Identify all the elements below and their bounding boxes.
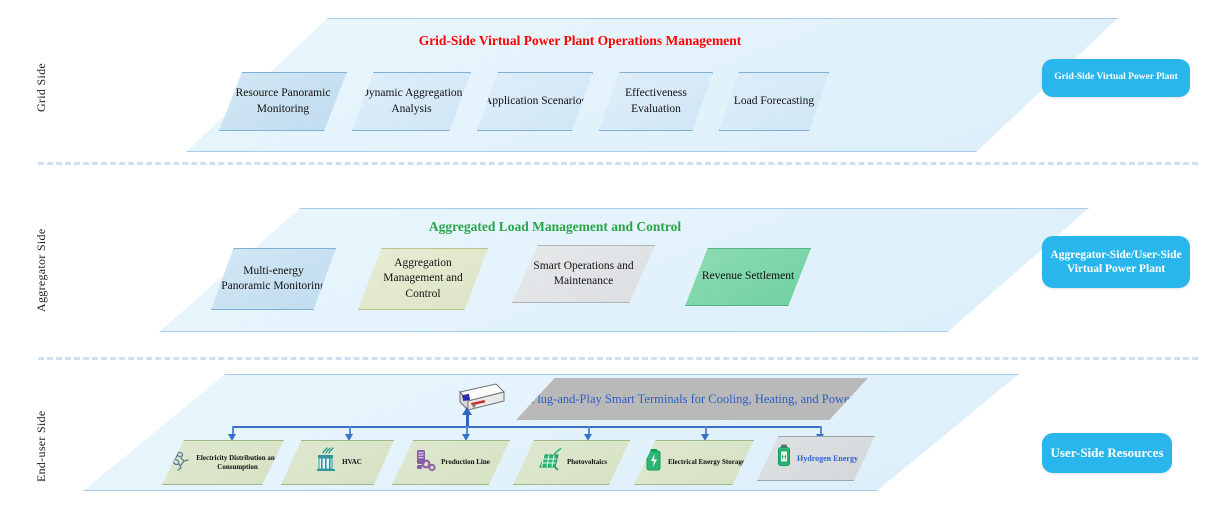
card-label: Revenue Settlement [696,269,800,284]
pill-user-side-resources[interactable]: User-Side Resources [1042,433,1172,473]
drop-arrow-5-icon [701,434,709,441]
resource-label: Hydrogen Energy [797,454,858,464]
divider-grid-aggregator [38,162,1198,165]
card-label: Application Scenarios [478,94,592,109]
smart-gateway-icon [450,382,506,421]
resource-label: Production Line [441,458,490,467]
resource-label: Electricity Distribution and Consumption [196,454,279,472]
resource-bus-line [233,426,821,428]
card-label: Smart Operations and Maintenance [513,259,654,289]
pill-grid-side-virtual-power-plant[interactable]: Grid-Side Virtual Power Plant [1042,59,1190,97]
resource-label: Photovoltaics [567,458,607,467]
smart-terminal-banner: Plug-and-Play Smart Terminals for Coolin… [516,378,868,420]
side-label-aggregator-side: Aggregator Side [34,229,49,312]
card-label: Multi-energy Panoramic Monitoring [212,264,335,294]
smart-terminal-banner-label: Plug-and-Play Smart Terminals for Coolin… [530,391,854,407]
production-line-icon [412,447,438,478]
drop-arrow-4-icon [584,434,592,441]
pill-label: Aggregator-Side/User-Side Virtual Power … [1042,248,1190,277]
diagram-canvas: Grid Side Aggregator Side End-user Side … [0,0,1225,530]
drop-arrow-1-icon [228,434,236,441]
card-label: Effectiveness Evaluation [600,86,712,116]
card-label: Aggregation Management and Control [359,256,487,302]
pill-label: User-Side Resources [1050,445,1163,461]
hydrogen-energy-icon: H [774,443,794,474]
resource-label: Electrical Energy Storage [668,458,745,467]
photovoltaics-icon [536,447,564,478]
divider-aggregator-enduser [38,357,1198,360]
gateway-arrow-icon [462,407,472,415]
pill-aggregator-side-user-side-virtual-power-plant[interactable]: Aggregator-Side/User-Side Virtual Power … [1042,236,1190,288]
side-label-end-user-side: End-user Side [34,410,49,482]
svg-text:H: H [781,454,786,462]
pill-label: Grid-Side Virtual Power Plant [1054,72,1178,84]
drop-arrow-2-icon [345,434,353,441]
card-label: Dynamic Aggregation Analysis [353,86,470,116]
card-label: Load Forecasting [728,94,820,109]
hvac-icon [313,447,339,478]
grid-side-band-title: Grid-Side Virtual Power Plant Operations… [400,33,760,49]
drop-arrow-3-icon [462,434,470,441]
aggregator-side-band-title: Aggregated Load Management and Control [400,219,710,235]
card-label: Resource Panoramic Monitoring [220,86,346,116]
resource-label: HVAC [342,458,362,467]
side-label-grid-side: Grid Side [34,63,49,112]
